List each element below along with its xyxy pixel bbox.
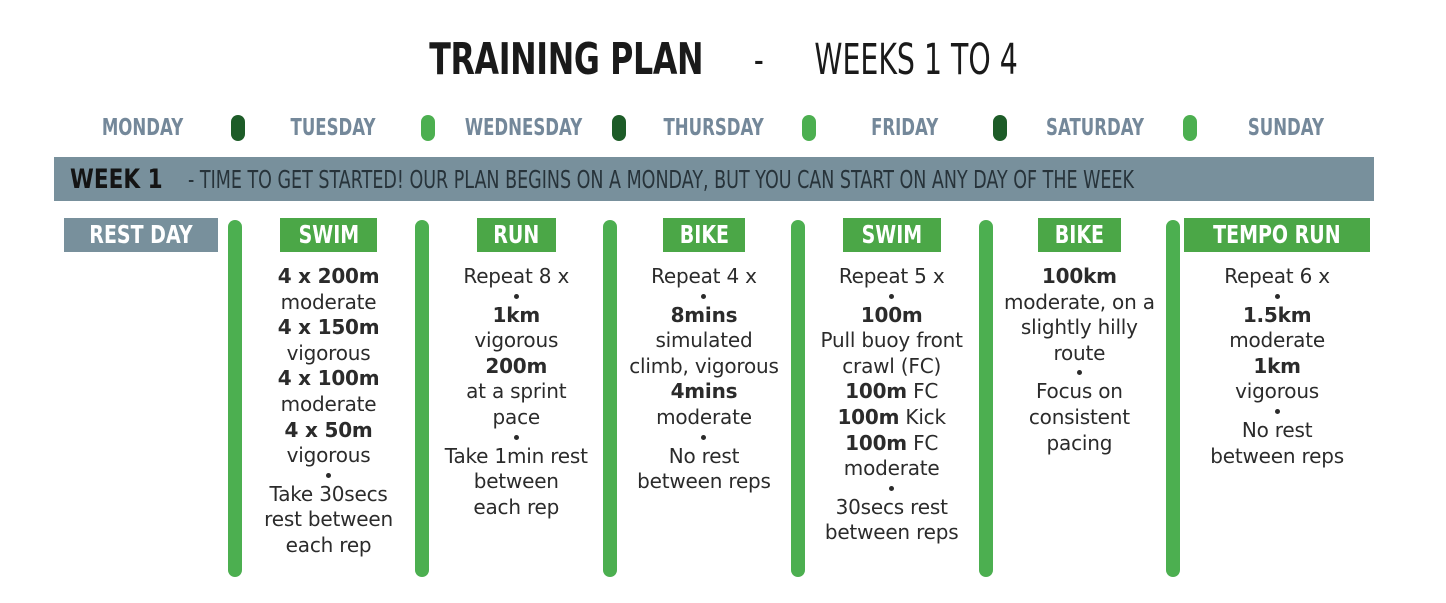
workout-text: Pull buoy front: [821, 328, 963, 352]
workout-line: Repeat 4 x: [621, 264, 787, 290]
day-separator-dot: [1183, 115, 1197, 141]
workout-line: 4 x 200m: [246, 264, 412, 290]
activity-badge: BIKE: [1038, 218, 1121, 252]
workout-line: 1km: [1184, 354, 1370, 380]
section-separator-dot: [1275, 294, 1280, 299]
workout-text: crawl (FC): [842, 354, 941, 378]
workout-line: moderate, on a: [997, 290, 1163, 316]
workout-line: Take 1min rest: [433, 444, 599, 470]
workout-line: 30secs rest: [809, 495, 975, 521]
workout-line: 100m FC: [809, 431, 975, 457]
day-separator-dot: [231, 115, 245, 141]
section-separator-dot: [1077, 370, 1082, 375]
workout-text: FC: [907, 379, 938, 403]
day-header-label: THURSDAY: [664, 115, 764, 141]
workout-metric: 100km: [1042, 264, 1117, 288]
workout-line: climb, vigorous: [621, 354, 787, 380]
activity-badge-label: BIKE: [1055, 222, 1104, 247]
workout-line: moderate: [246, 290, 412, 316]
workout-text: climb, vigorous: [629, 354, 778, 378]
day-header-tuesday: TUESDAY: [245, 115, 422, 141]
section-separator-dot: [326, 473, 331, 478]
day-header-wednesday: WEDNESDAY: [435, 115, 612, 141]
day-column-wednesday: RUNRepeat 8 x1kmvigorous200mat a sprintp…: [429, 218, 603, 520]
workout-line: between reps: [1184, 444, 1370, 470]
workout-line: route: [997, 341, 1163, 367]
workout-text: route: [1053, 341, 1105, 365]
column-divider: [979, 220, 993, 577]
workout-text: pacing: [1047, 431, 1113, 455]
workout-line: pace: [433, 405, 599, 431]
workout-text: moderate: [281, 392, 377, 416]
day-header-label: TUESDAY: [290, 115, 375, 141]
workout-text: between reps: [825, 520, 959, 544]
day-column-monday: REST DAY: [54, 218, 228, 264]
day-column-friday: SWIMRepeat 5 x100mPull buoy frontcrawl (…: [805, 218, 979, 546]
workout-line: Take 30secs: [246, 482, 412, 508]
workout-text: moderate: [656, 405, 752, 429]
workout-line: 4 x 100m: [246, 366, 412, 392]
workout-line: Repeat 6 x: [1184, 264, 1370, 290]
workout-text: moderate: [281, 290, 377, 314]
workout-metric: 100m: [845, 431, 907, 455]
workout-line: moderate: [621, 405, 787, 431]
workout-text: Repeat 5 x: [839, 264, 945, 288]
workout-text: between: [474, 469, 559, 493]
workout-line: 100m FC: [809, 379, 975, 405]
title-dash: -: [754, 38, 764, 82]
workout-text: 30secs rest: [836, 495, 948, 519]
workout-line: pacing: [997, 431, 1163, 457]
workout-line: Repeat 5 x: [809, 264, 975, 290]
activity-badge: BIKE: [663, 218, 746, 252]
workout-details: Repeat 5 x100mPull buoy frontcrawl (FC)1…: [809, 264, 975, 546]
workout-text: Repeat 6 x: [1224, 264, 1330, 288]
workout-text: Kick: [899, 405, 946, 429]
workout-text: moderate, on a: [1004, 290, 1155, 314]
workout-metric: 100m: [837, 405, 899, 429]
workout-metric: 8mins: [671, 303, 738, 327]
day-header-label: SUNDAY: [1248, 115, 1324, 141]
workout-text: each rep: [473, 495, 559, 519]
workout-line: between reps: [621, 469, 787, 495]
section-separator-dot: [701, 294, 706, 299]
workout-details: Repeat 4 x8minssimulatedclimb, vigorous4…: [621, 264, 787, 495]
day-column-thursday: BIKERepeat 4 x8minssimulatedclimb, vigor…: [617, 218, 791, 495]
workout-text: Repeat 4 x: [651, 264, 757, 288]
workout-text: each rep: [286, 533, 372, 557]
workout-line: 4mins: [621, 379, 787, 405]
week-banner-label: WEEK 1: [70, 164, 163, 195]
workout-metric: 1km: [493, 303, 540, 327]
workout-text: between reps: [637, 469, 771, 493]
workout-metric: 100m: [861, 303, 923, 327]
day-separator-dot: [421, 115, 435, 141]
workout-text: pace: [493, 405, 540, 429]
column-divider: [1166, 220, 1180, 577]
workout-line: vigorous: [1184, 379, 1370, 405]
workout-line: between reps: [809, 520, 975, 546]
workout-metric: 4 x 100m: [278, 366, 380, 390]
workout-text: No rest: [669, 444, 740, 468]
activity-badge: RUN: [477, 218, 555, 252]
workout-details: 4 x 200mmoderate4 x 150mvigorous4 x 100m…: [246, 264, 412, 559]
workout-line: consistent: [997, 405, 1163, 431]
section-separator-dot: [701, 435, 706, 440]
workout-metric: 200m: [485, 354, 547, 378]
training-plan-infographic: TRAINING PLAN-WEEKS 1 TO 4 MONDAYTUESDAY…: [0, 0, 1446, 603]
workout-text: Focus on: [1036, 379, 1123, 403]
workout-text: rest between: [264, 507, 393, 531]
workout-line: slightly hilly: [997, 315, 1163, 341]
workout-line: vigorous: [433, 328, 599, 354]
column-divider: [415, 220, 429, 577]
day-header-label: MONDAY: [102, 115, 183, 141]
workout-text: vigorous: [474, 328, 558, 352]
workout-metric: 4 x 150m: [278, 315, 380, 339]
activity-badge-label: SWIM: [298, 222, 359, 247]
workout-line: No rest: [621, 444, 787, 470]
week-banner-description: - TIME TO GET STARTED! OUR PLAN BEGINS O…: [188, 165, 1134, 194]
workout-metric: 4mins: [671, 379, 738, 403]
workout-line: 100m: [809, 303, 975, 329]
workout-line: Focus on: [997, 379, 1163, 405]
column-divider: [228, 220, 242, 577]
activity-badge-label: REST DAY: [89, 222, 192, 247]
workout-line: between: [433, 469, 599, 495]
workout-metric: 1.5km: [1243, 303, 1312, 327]
workout-text: vigorous: [1235, 379, 1319, 403]
workout-text: vigorous: [287, 443, 371, 467]
workout-line: No rest: [1184, 418, 1370, 444]
workout-line: 4 x 150m: [246, 315, 412, 341]
workout-line: rest between: [246, 507, 412, 533]
day-header-thursday: THURSDAY: [626, 115, 803, 141]
activity-badge-label: SWIM: [861, 222, 922, 247]
section-separator-dot: [514, 294, 519, 299]
workout-text: consistent: [1029, 405, 1130, 429]
workout-line: simulated: [621, 328, 787, 354]
workout-line: 8mins: [621, 303, 787, 329]
workout-text: simulated: [655, 328, 752, 352]
days-header-row: MONDAYTUESDAYWEDNESDAYTHURSDAYFRIDAYSATU…: [54, 110, 1374, 146]
activity-badge: SWIM: [280, 218, 378, 252]
workout-line: vigorous: [246, 443, 412, 469]
day-header-friday: FRIDAY: [816, 115, 993, 141]
column-divider: [603, 220, 617, 577]
workout-line: vigorous: [246, 341, 412, 367]
workout-line: moderate: [246, 392, 412, 418]
workout-line: Pull buoy front: [809, 328, 975, 354]
workout-line: 100km: [997, 264, 1163, 290]
activity-badge-label: BIKE: [679, 222, 728, 247]
page-title: TRAINING PLAN-WEEKS 1 TO 4: [0, 0, 1446, 90]
day-column-tuesday: SWIM4 x 200mmoderate4 x 150mvigorous4 x …: [242, 218, 416, 559]
day-column-sunday: TEMPO RUNRepeat 6 x1.5kmmoderate1kmvigor…: [1180, 218, 1374, 469]
workout-details: 100kmmoderate, on aslightly hillyrouteFo…: [997, 264, 1163, 456]
workout-text: vigorous: [287, 341, 371, 365]
title-subtitle: WEEKS 1 TO 4: [814, 35, 1017, 85]
activity-badge-label: TEMPO RUN: [1213, 222, 1341, 247]
workout-details: Repeat 8 x1kmvigorous200mat a sprintpace…: [433, 264, 599, 520]
day-header-label: SATURDAY: [1046, 115, 1144, 141]
activity-badge-label: RUN: [493, 222, 539, 247]
workout-line: 1.5km: [1184, 303, 1370, 329]
workout-line: Repeat 8 x: [433, 264, 599, 290]
section-separator-dot: [889, 294, 894, 299]
workout-details: Repeat 6 x1.5kmmoderate1kmvigorousNo res…: [1184, 264, 1370, 469]
workout-metric: 4 x 200m: [278, 264, 380, 288]
activity-badge: SWIM: [843, 218, 941, 252]
week-banner: WEEK 1 - TIME TO GET STARTED! OUR PLAN B…: [54, 157, 1374, 201]
workout-text: No rest: [1242, 418, 1313, 442]
section-separator-dot: [889, 486, 894, 491]
day-separator-dot: [612, 115, 626, 141]
workout-text: Repeat 8 x: [463, 264, 569, 288]
title-main: TRAINING PLAN: [429, 34, 703, 85]
week-columns: REST DAYSWIM4 x 200mmoderate4 x 150mvigo…: [54, 218, 1374, 586]
day-column-saturday: BIKE100kmmoderate, on aslightly hillyrou…: [993, 218, 1167, 456]
workout-text: FC: [907, 431, 938, 455]
column-divider: [791, 220, 805, 577]
workout-line: at a sprint: [433, 379, 599, 405]
day-header-monday: MONDAY: [54, 115, 231, 141]
day-separator-dot: [802, 115, 816, 141]
day-header-saturday: SATURDAY: [1007, 115, 1184, 141]
workout-line: 100m Kick: [809, 405, 975, 431]
day-header-sunday: SUNDAY: [1197, 115, 1374, 141]
workout-text: at a sprint: [466, 379, 566, 403]
workout-text: slightly hilly: [1021, 315, 1138, 339]
section-separator-dot: [514, 435, 519, 440]
workout-text: Take 1min rest: [445, 444, 588, 468]
workout-text: between reps: [1210, 444, 1344, 468]
section-separator-dot: [1275, 409, 1280, 414]
workout-line: 200m: [433, 354, 599, 380]
workout-line: each rep: [433, 495, 599, 521]
day-header-label: WEDNESDAY: [465, 115, 582, 141]
workout-text: Take 30secs: [270, 482, 388, 506]
workout-line: moderate: [1184, 328, 1370, 354]
workout-metric: 4 x 50m: [285, 418, 373, 442]
workout-metric: 1km: [1253, 354, 1300, 378]
day-header-label: FRIDAY: [871, 115, 938, 141]
workout-text: moderate: [844, 456, 940, 480]
day-separator-dot: [993, 115, 1007, 141]
workout-line: moderate: [809, 456, 975, 482]
workout-line: crawl (FC): [809, 354, 975, 380]
activity-badge: REST DAY: [64, 218, 218, 252]
workout-text: moderate: [1229, 328, 1325, 352]
workout-line: each rep: [246, 533, 412, 559]
activity-badge: TEMPO RUN: [1184, 218, 1370, 252]
workout-line: 1km: [433, 303, 599, 329]
workout-metric: 100m: [845, 379, 907, 403]
workout-line: 4 x 50m: [246, 418, 412, 444]
